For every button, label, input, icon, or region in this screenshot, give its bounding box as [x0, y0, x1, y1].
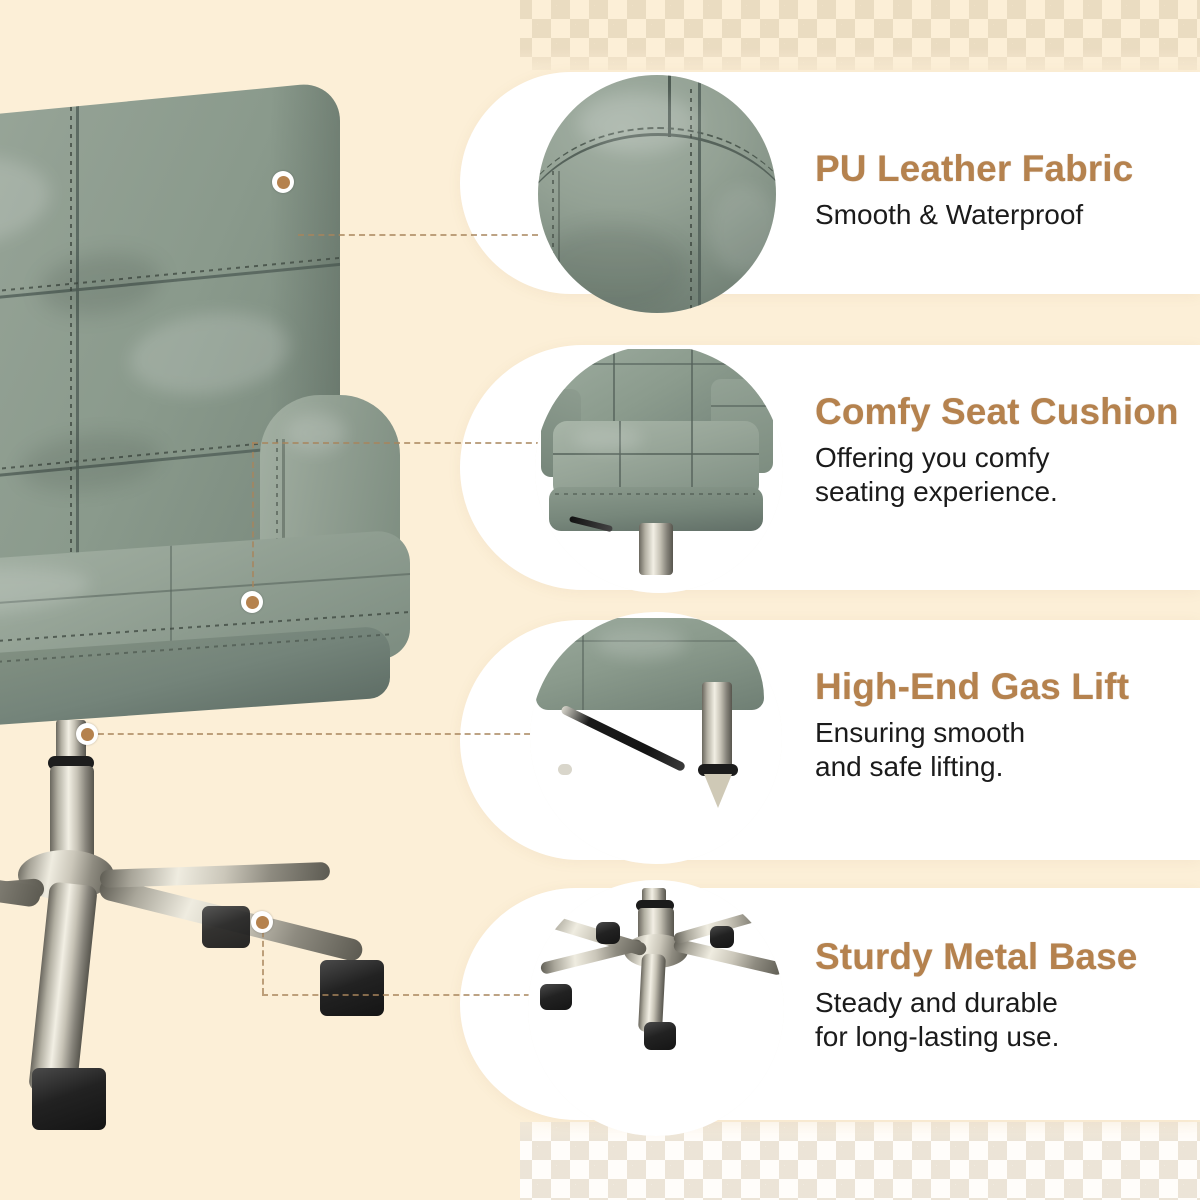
feature-text-gas-lift: High-End Gas Lift Ensuring smooth and sa… [815, 668, 1129, 784]
caster-wheel [202, 906, 250, 948]
feature-subtitle-gas-lift: Ensuring smooth and safe lifting. [815, 716, 1129, 784]
callout-marker-base[interactable] [251, 911, 273, 933]
feature-text-metal-base: Sturdy Metal Base Steady and durable for… [815, 938, 1137, 1054]
feature-title-seat-cushion: Comfy Seat Cushion [815, 393, 1179, 432]
caster-wheel [320, 960, 384, 1016]
caster-wheel [32, 1068, 106, 1130]
detail-photo-gas-lift [530, 612, 782, 864]
callout-marker-seat[interactable] [241, 591, 263, 613]
infographic-canvas: PU Leather Fabric Smooth & Waterproof Co… [0, 0, 1200, 1200]
connector-line-4b [262, 994, 540, 996]
callout-marker-backrest[interactable] [272, 171, 294, 193]
connector-line-3 [88, 733, 540, 735]
connector-line-2a [252, 442, 542, 444]
feature-subtitle-pu-leather: Smooth & Waterproof [815, 198, 1133, 232]
connector-line-1 [298, 234, 538, 236]
feature-subtitle-metal-base: Steady and durable for long-lasting use. [815, 986, 1137, 1054]
feature-title-gas-lift: High-End Gas Lift [815, 668, 1129, 707]
feature-text-pu-leather: PU Leather Fabric Smooth & Waterproof [815, 150, 1133, 232]
connector-line-2b [252, 442, 254, 597]
feature-title-metal-base: Sturdy Metal Base [815, 938, 1137, 977]
detail-photo-pu-leather [538, 75, 776, 313]
callout-marker-gas-lift[interactable] [76, 723, 98, 745]
detail-photo-seat-cushion [535, 345, 783, 593]
feature-subtitle-seat-cushion: Offering you comfy seating experience. [815, 441, 1179, 509]
feature-text-seat-cushion: Comfy Seat Cushion Offering you comfy se… [815, 393, 1179, 509]
detail-photo-metal-base [528, 880, 784, 1136]
main-chair-base [0, 840, 460, 1140]
main-chair-seat [0, 550, 420, 740]
feature-title-pu-leather: PU Leather Fabric [815, 150, 1133, 189]
